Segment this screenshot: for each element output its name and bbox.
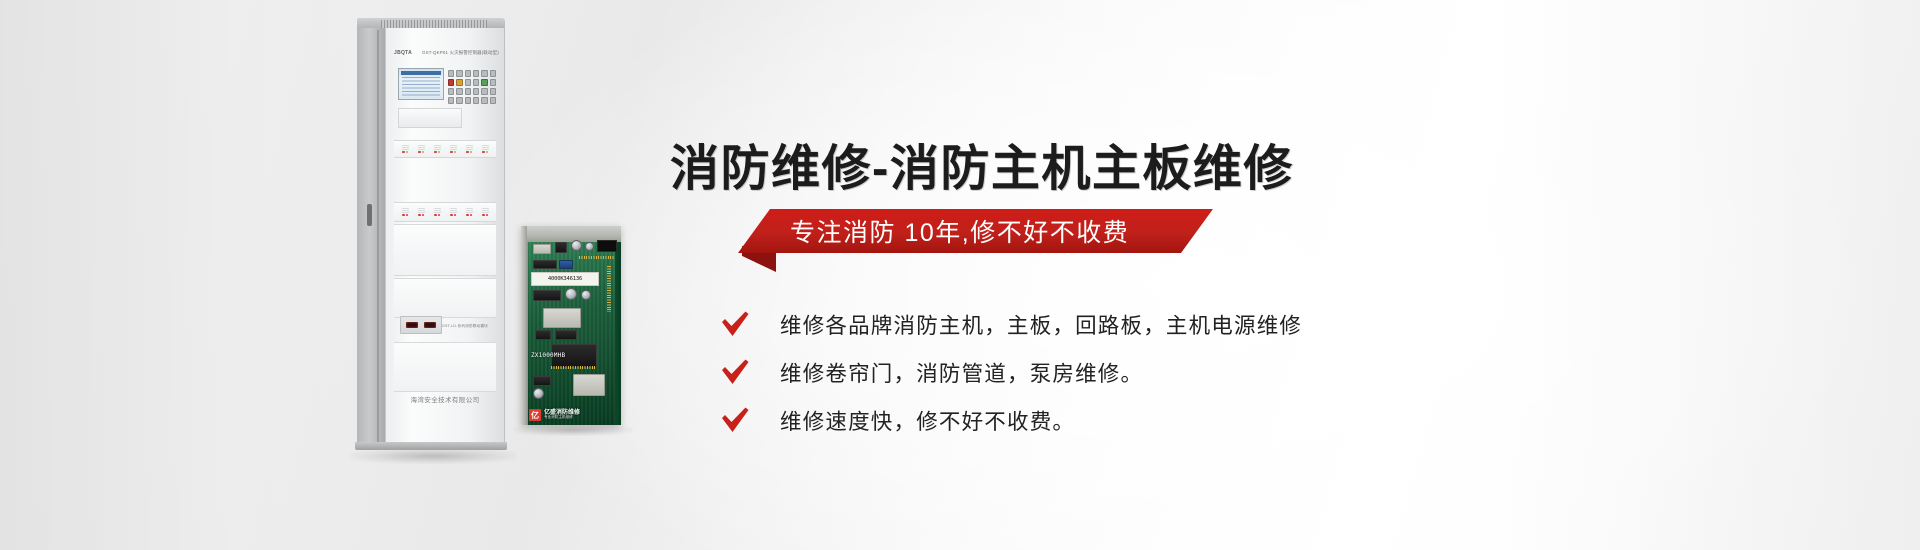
meter-digit-display (424, 322, 436, 328)
cabinet-blank-plate (398, 108, 462, 128)
cabinet-shadow (349, 448, 517, 464)
pcb-component (533, 244, 551, 254)
pcb-serial-sticker: 4000K346136 (531, 272, 599, 286)
pcb-pin-header (551, 366, 595, 369)
zone-led-dots (418, 214, 425, 217)
pcb-shadow (514, 424, 632, 436)
pcb-left-bracket (521, 226, 528, 425)
list-item: 维修卷帘门，消防管道，泵房维修。 (720, 348, 1302, 396)
promo-banner: JBQTA GST-QKP01 火灾报警控制器(联动型) (0, 0, 1920, 550)
pcb-ic-chip (573, 374, 605, 396)
zone-led-column (418, 208, 425, 217)
zone-led-group (394, 141, 496, 157)
keypad-key (490, 79, 496, 86)
pcb-component (555, 330, 577, 340)
cabinet-base-plinth (355, 442, 507, 450)
zone-led (418, 214, 421, 217)
zone-led (434, 214, 437, 217)
zone-led (482, 151, 485, 154)
zone-led-dots (482, 214, 489, 217)
zone-led (402, 151, 405, 154)
zone-led-column (402, 208, 409, 217)
zone-led-text (418, 145, 425, 150)
list-item: 维修各品牌消防主机，主板，回路板，主机电源维修 (720, 300, 1302, 348)
zone-led (406, 214, 409, 217)
zone-led-dots (482, 151, 489, 154)
pcb-connector (597, 240, 617, 252)
pcb-chip-label: ZX1000MHB (531, 352, 565, 359)
keypad-key (481, 97, 487, 104)
watermark-text-group: 亿盛消防维修 专业消防主机维修 (544, 410, 580, 420)
pcb-pin-header (607, 266, 611, 312)
zone-led (438, 151, 441, 154)
meter-digit-display (406, 322, 418, 328)
zone-led-column (418, 145, 425, 154)
cabinet-module-panel (394, 278, 496, 318)
pcb-capacitor (581, 290, 591, 300)
pcb-ic-chip (543, 308, 581, 328)
zone-led-column (482, 208, 489, 217)
zone-led-column (450, 145, 457, 154)
zone-led-text (434, 145, 441, 150)
keypad-key (456, 88, 462, 95)
zone-led-dots (418, 151, 425, 154)
zone-led (422, 214, 425, 217)
keypad-row (448, 79, 496, 86)
tagline-ribbon: 专注消防 10年,修不好不收费 (738, 209, 1218, 277)
zone-led-text (466, 145, 473, 150)
fire-alarm-control-cabinet-image: JBQTA GST-QKP01 火灾报警控制器(联动型) (355, 18, 505, 443)
cabinet-lcd-screen (398, 68, 444, 100)
keypad-key (473, 97, 479, 104)
keypad-row (448, 88, 496, 95)
fire-alarm-mainboard-image: 4000K346136 ZX1000MHB 亿 亿盛消防维修 专业消防主机维修 (521, 226, 621, 425)
keypad-row (448, 70, 496, 77)
pcb-capacitor (585, 242, 594, 251)
cabinet-keypad (448, 70, 496, 100)
cabinet-zone-led-row (394, 140, 496, 158)
zone-led-text (434, 208, 441, 213)
zone-led (406, 151, 409, 154)
keypad-key-fault (456, 79, 462, 86)
zone-led-text (418, 208, 425, 213)
cabinet-side-panel (357, 28, 385, 448)
zone-led (450, 151, 453, 154)
zone-led (438, 214, 441, 217)
zone-led (422, 151, 425, 154)
keypad-key (481, 70, 487, 77)
zone-led-text (450, 145, 457, 150)
keypad-key-reset (481, 79, 487, 86)
zone-led (450, 214, 453, 217)
zone-led-text (482, 208, 489, 213)
zone-led-dots (450, 214, 457, 217)
pcb-component (535, 330, 551, 340)
check-icon (720, 407, 750, 433)
cabinet-module-panel (394, 224, 496, 276)
watermark-tagline: 专业消防主机维修 (544, 416, 580, 420)
keypad-key (448, 97, 454, 104)
keypad-key (465, 79, 471, 86)
zone-led-group (394, 203, 496, 221)
zone-led (454, 151, 457, 154)
check-icon (720, 359, 750, 385)
cabinet-module-label: GST-LD-系列消防联动模块 (442, 324, 488, 329)
zone-led-dots (434, 151, 441, 154)
pcb-pin-header (579, 256, 615, 259)
zone-led-column (482, 145, 489, 154)
pcb-component (555, 242, 567, 253)
keypad-key (481, 88, 487, 95)
keypad-key (465, 70, 471, 77)
cabinet-power-meter (400, 316, 442, 334)
zone-led (466, 151, 469, 154)
zone-led-dots (402, 214, 409, 217)
keypad-key (448, 88, 454, 95)
cabinet-zone-led-row (394, 202, 496, 222)
zone-led-column (434, 145, 441, 154)
zone-led-dots (466, 214, 473, 217)
zone-led-dots (402, 151, 409, 154)
keypad-key (448, 70, 454, 77)
zone-led (402, 214, 405, 217)
zone-led (418, 151, 421, 154)
cabinet-brand-label: JBQTA (394, 50, 412, 56)
banner-content: 消防维修-消防主机主板维修 专注消防 10年,修不好不收费 维修各品牌消防主机，… (660, 0, 1920, 550)
pcb-component (533, 260, 557, 269)
keypad-key (473, 70, 479, 77)
watermark-logo-badge: 亿 (529, 409, 541, 421)
keypad-row (448, 97, 496, 104)
list-item-label: 维修卷帘门，消防管道，泵房维修。 (780, 357, 1143, 388)
zone-led (434, 151, 437, 154)
zone-led-text (402, 208, 409, 213)
keypad-key (490, 97, 496, 104)
zone-led (454, 214, 457, 217)
list-item-label: 维修速度快，修不好不收费。 (780, 405, 1075, 436)
keypad-key (465, 97, 471, 104)
list-item-label: 维修各品牌消防主机，主板，回路板，主机电源维修 (780, 309, 1302, 340)
keypad-key (456, 97, 462, 104)
zone-led-text (402, 145, 409, 150)
product-imagery: JBQTA GST-QKP01 火灾报警控制器(联动型) (0, 0, 660, 550)
pcb-watermark: 亿 亿盛消防维修 专业消防主机维修 (529, 409, 580, 421)
zone-led-column (450, 208, 457, 217)
zone-led-text (466, 208, 473, 213)
zone-led-column (466, 145, 473, 154)
cabinet-front-face: JBQTA GST-QKP01 火灾报警控制器(联动型) (385, 28, 505, 448)
lcd-text-rows (402, 77, 440, 97)
pcb-component (559, 260, 573, 269)
zone-led-dots (434, 214, 441, 217)
ribbon-body: 专注消防 10年,修不好不收费 (738, 209, 1213, 253)
pcb-component (533, 376, 551, 386)
pcb-capacitor (571, 240, 582, 251)
cabinet-door-handle (367, 204, 372, 226)
cabinet-company-name: 海湾安全技术有限公司 (386, 394, 504, 404)
zone-led-column (402, 145, 409, 154)
zone-led (470, 214, 473, 217)
page-title: 消防维修-消防主机主板维修 (670, 129, 1294, 200)
pcb-component (533, 290, 561, 301)
zone-led-text (482, 145, 489, 150)
cabinet-side-seam (377, 30, 379, 448)
keypad-key-alarm (448, 79, 454, 86)
zone-led-column (434, 208, 441, 217)
zone-led (486, 214, 489, 217)
ribbon-label: 专注消防 10年,修不好不收费 (790, 213, 1129, 249)
keypad-key (490, 88, 496, 95)
zone-led-dots (450, 151, 457, 154)
pcb-capacitor (565, 288, 577, 300)
cabinet-model-label: GST-QKP01 火灾报警控制器(联动型) (422, 50, 499, 56)
cabinet-vent-grille (381, 20, 487, 28)
zone-led (466, 214, 469, 217)
check-icon (720, 311, 750, 337)
list-item: 维修速度快，修不好不收费。 (720, 396, 1302, 444)
zone-led (486, 151, 489, 154)
lcd-title-bar (401, 71, 441, 75)
zone-led-dots (466, 151, 473, 154)
zone-led (470, 151, 473, 154)
zone-led (482, 214, 485, 217)
keypad-key (456, 70, 462, 77)
keypad-key (473, 79, 479, 86)
feature-list: 维修各品牌消防主机，主板，回路板，主机电源维修 维修卷帘门，消防管道，泵房维修。… (720, 300, 1302, 444)
keypad-key (490, 70, 496, 77)
cabinet-module-panel (394, 342, 496, 392)
zone-led-text (450, 208, 457, 213)
keypad-key (465, 88, 471, 95)
pcb-right-edge (615, 226, 621, 425)
zone-led-column (466, 208, 473, 217)
pcb-capacitor (533, 388, 544, 399)
keypad-key (473, 88, 479, 95)
